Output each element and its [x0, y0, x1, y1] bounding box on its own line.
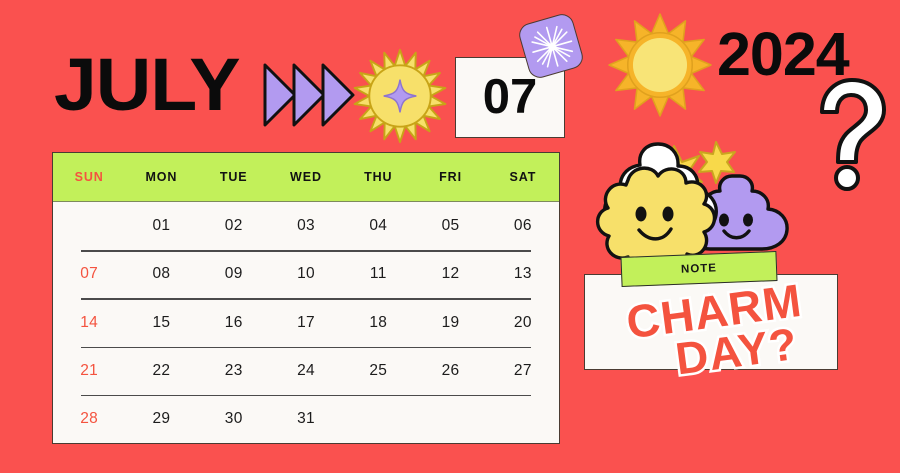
day-cell[interactable]: 13 — [487, 265, 559, 283]
day-cell[interactable]: 25 — [342, 362, 414, 380]
weekday-sat: SAT — [487, 170, 559, 184]
day-cell[interactable]: 18 — [342, 314, 414, 332]
day-cell[interactable]: 14 — [53, 314, 125, 332]
calendar-week-row: 07 08 09 10 11 12 13 — [53, 250, 559, 298]
weekday-wed: WED — [270, 170, 342, 184]
day-cell[interactable]: 23 — [198, 362, 270, 380]
day-cell[interactable]: 21 — [53, 362, 125, 380]
day-cell[interactable]: 19 — [414, 314, 486, 332]
day-cell[interactable]: 12 — [414, 265, 486, 283]
calendar-week-row: 01 02 03 04 05 06 — [53, 202, 559, 250]
weekday-sun: SUN — [53, 170, 125, 184]
calendar-grid: 01 02 03 04 05 06 07 08 09 10 11 12 13 1… — [53, 202, 559, 443]
weekday-fri: FRI — [414, 170, 486, 184]
day-cell[interactable]: 29 — [125, 410, 197, 428]
day-cell[interactable]: 26 — [414, 362, 486, 380]
triple-chevron-right-icon — [263, 62, 355, 128]
day-cell[interactable]: 22 — [125, 362, 197, 380]
day-cell[interactable]: 20 — [487, 314, 559, 332]
day-cell[interactable]: 07 — [53, 265, 125, 283]
day-cell[interactable]: 16 — [198, 314, 270, 332]
day-cell[interactable]: 31 — [270, 410, 342, 428]
weekday-thu: THU — [342, 170, 414, 184]
day-cell[interactable]: 02 — [198, 217, 270, 235]
day-cell[interactable]: 11 — [342, 265, 414, 283]
calendar-week-row: 14 15 16 17 18 19 20 — [53, 298, 559, 346]
calendar-week-row: 28 29 30 31 — [53, 395, 559, 443]
day-cell[interactable]: 08 — [125, 265, 197, 283]
day-cell[interactable]: 01 — [125, 217, 197, 235]
day-cell[interactable]: 06 — [487, 217, 559, 235]
day-cell[interactable]: 24 — [270, 362, 342, 380]
sun-starburst-icon — [352, 48, 448, 144]
day-cell[interactable]: 30 — [198, 410, 270, 428]
day-cell[interactable]: 05 — [414, 217, 486, 235]
calendar-card: SUN MON TUE WED THU FRI SAT 01 02 03 04 … — [52, 152, 560, 444]
weekday-mon: MON — [125, 170, 197, 184]
day-cell[interactable]: 27 — [487, 362, 559, 380]
month-title: JULY — [54, 48, 240, 122]
calendar-weekday-header: SUN MON TUE WED THU FRI SAT — [53, 153, 559, 202]
weekday-tue: TUE — [198, 170, 270, 184]
day-cell[interactable]: 09 — [198, 265, 270, 283]
day-number: 07 — [483, 73, 538, 122]
note-tag-label: NOTE — [681, 262, 717, 275]
sun-icon — [608, 13, 712, 117]
calendar-week-row: 21 22 23 24 25 26 27 — [53, 347, 559, 395]
poster-canvas: JULY — [0, 0, 900, 473]
note-illustration: NOTE CHARM DAY? — [566, 128, 900, 473]
day-cell[interactable]: 17 — [270, 314, 342, 332]
day-cell[interactable]: 15 — [125, 314, 197, 332]
day-cell[interactable]: 10 — [270, 265, 342, 283]
day-cell[interactable]: 03 — [270, 217, 342, 235]
day-cell[interactable]: 04 — [342, 217, 414, 235]
day-cell[interactable]: 28 — [53, 410, 125, 428]
